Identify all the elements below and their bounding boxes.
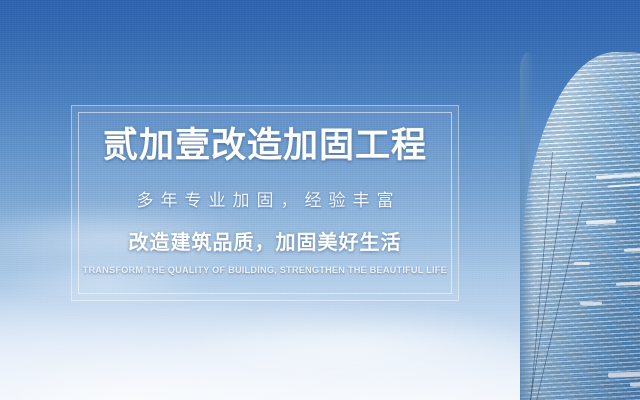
- banner-image: 贰加壹改造加固工程 多年专业加固，经验丰富 改造建筑品质，加固美好生活 TRAN…: [0, 0, 640, 400]
- image-grain-overlay: [0, 0, 640, 400]
